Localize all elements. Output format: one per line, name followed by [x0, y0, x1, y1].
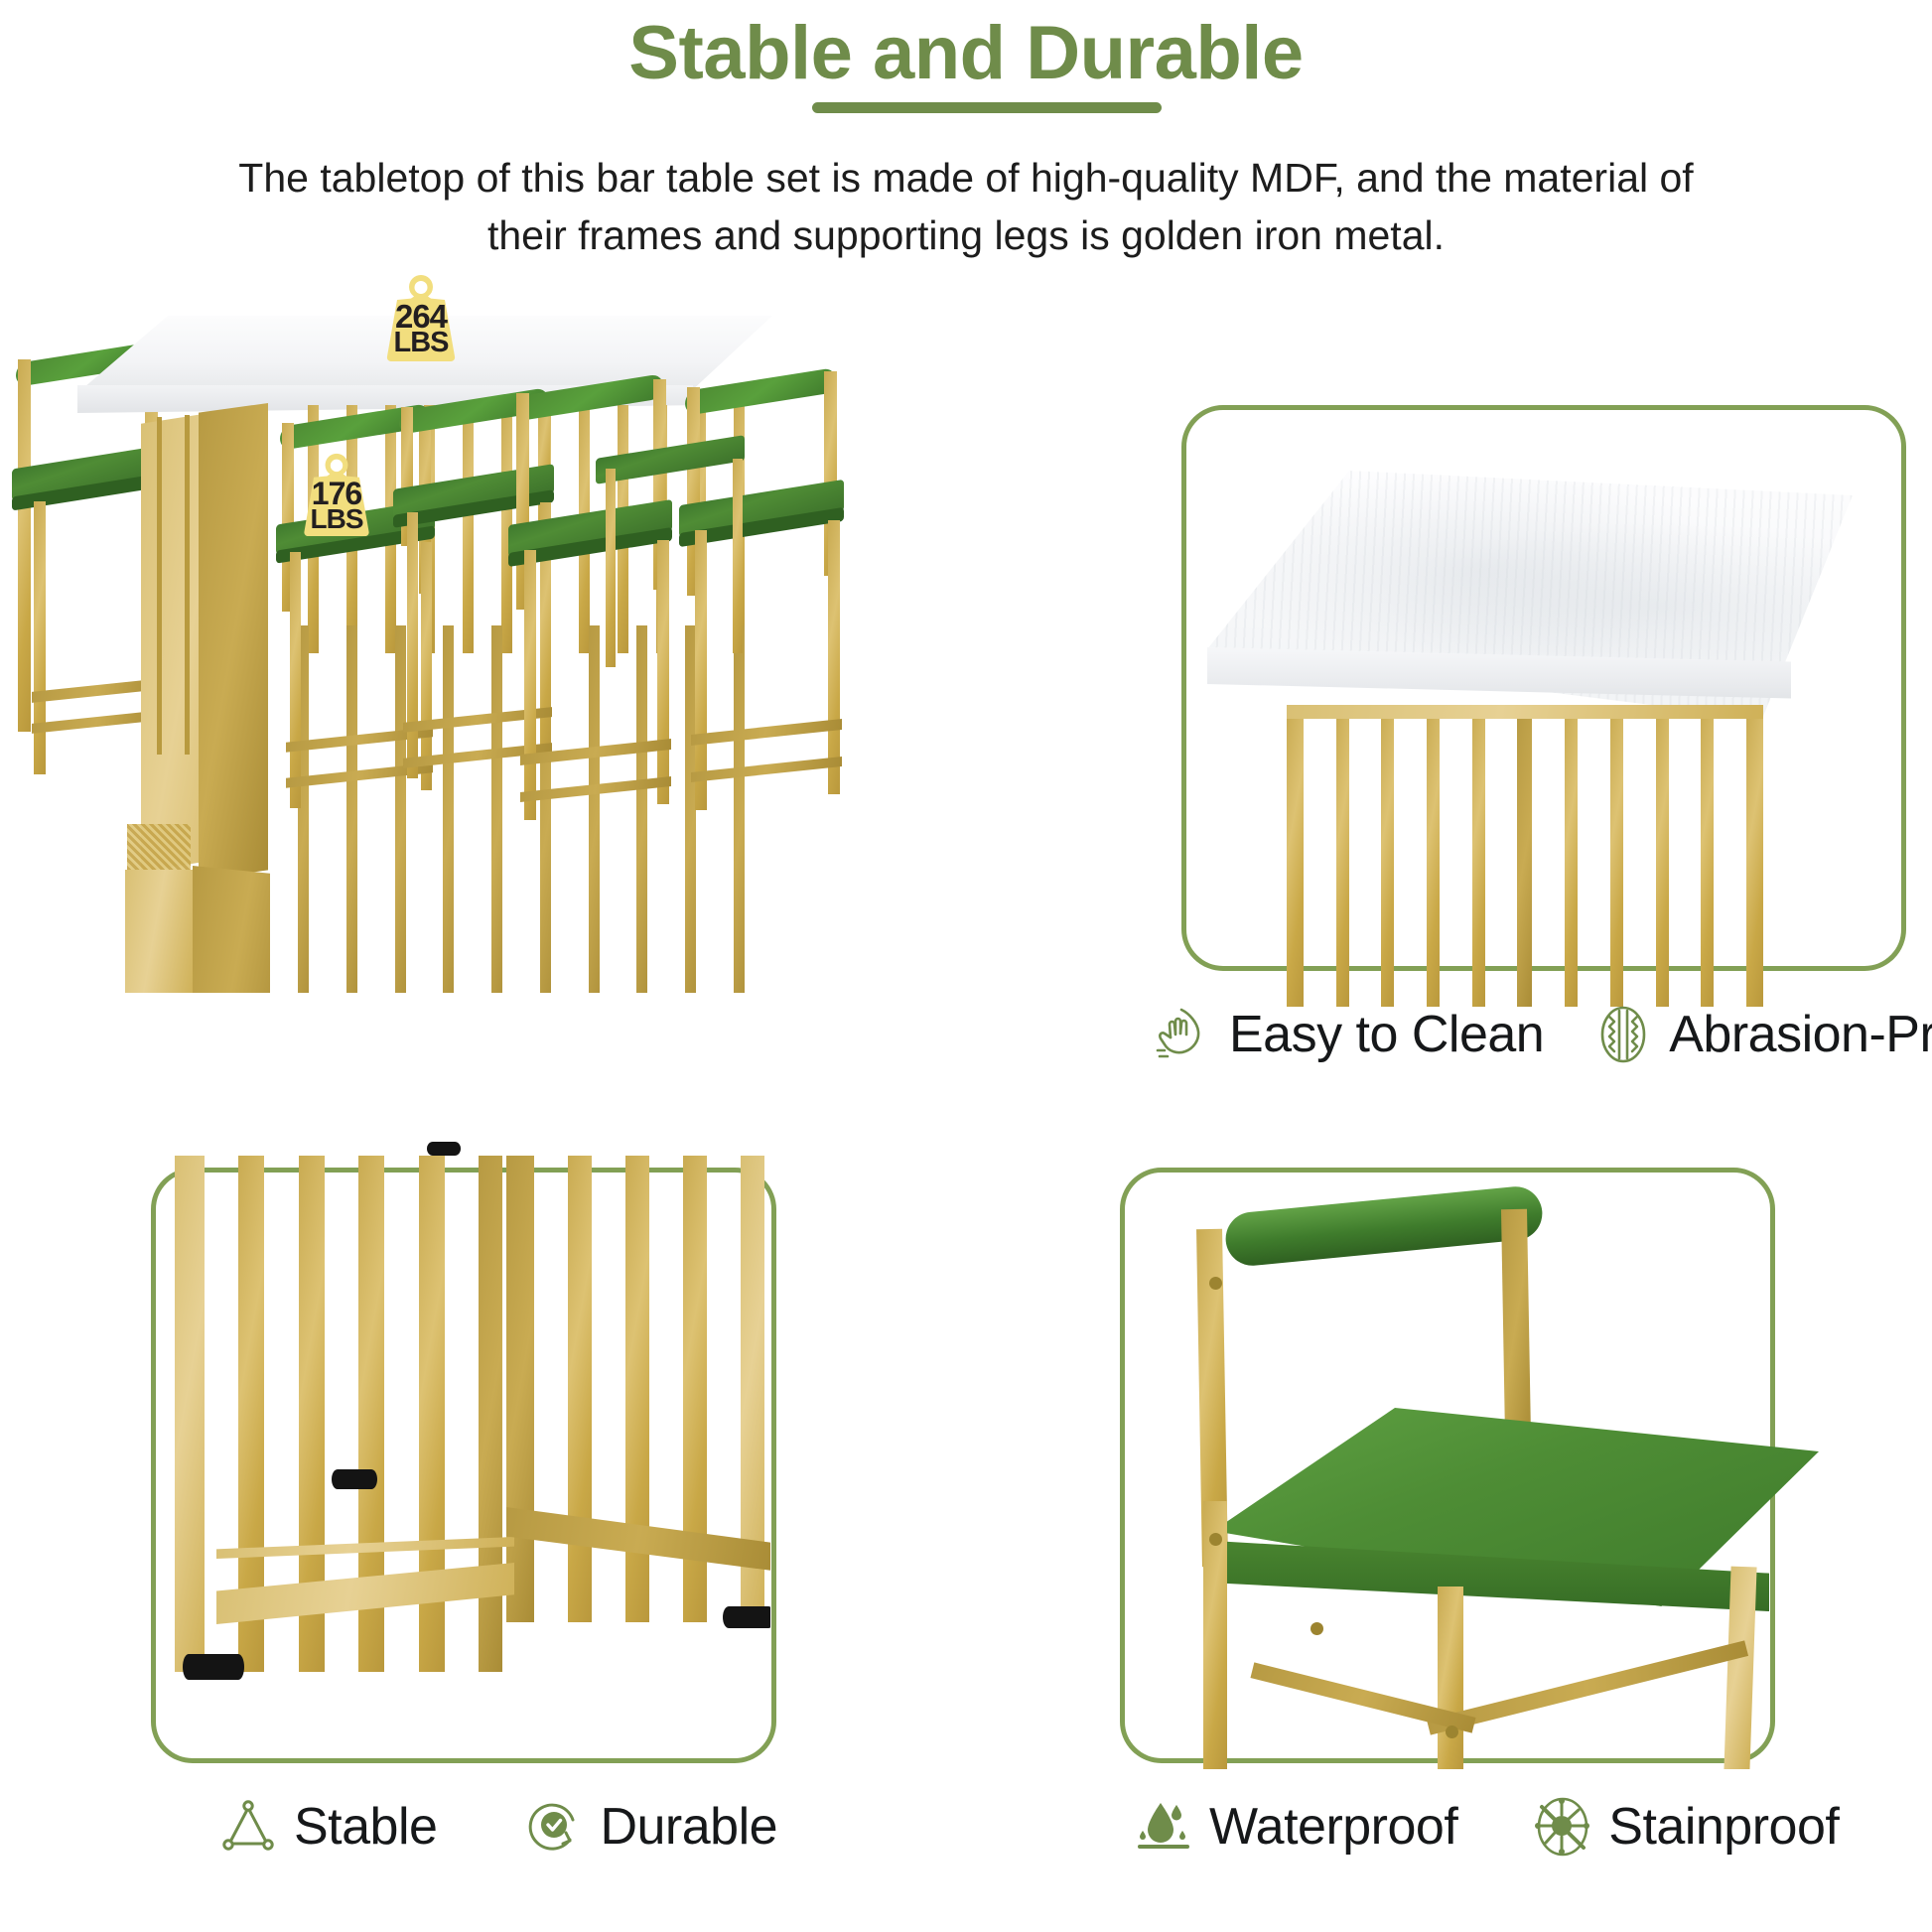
panel-legs-image [157, 1142, 770, 1769]
hand-wipe-icon [1152, 1003, 1215, 1066]
feature-label: Durable [600, 1801, 777, 1853]
chair-feature-row: Waterproof [1132, 1795, 1932, 1859]
feature-label: Stainproof [1608, 1801, 1839, 1853]
panel-tabletop-image [1187, 411, 1900, 1007]
feature-stable: Stable [216, 1795, 437, 1859]
feature-label: Waterproof [1209, 1801, 1457, 1853]
circular-arrow-check-icon [522, 1795, 586, 1859]
feature-waterproof: Waterproof [1132, 1795, 1457, 1859]
feature-label: Easy to Clean [1229, 1009, 1544, 1060]
panel-chair-image [1126, 1173, 1930, 1769]
feature-label: Abrasion-Proof [1669, 1009, 1932, 1060]
badge-unit: LBS [375, 329, 467, 356]
feature-label: Stable [294, 1801, 437, 1853]
feature-easy-to-clean: Easy to Clean [1152, 1003, 1544, 1066]
subtitle-line-1: The tabletop of this bar table set is ma… [172, 149, 1760, 207]
water-droplet-icon [1132, 1795, 1195, 1859]
tabletop-feature-row: Easy to Clean Abrasion-Proof [1152, 1003, 1932, 1066]
badge-table-capacity: 264 LBS [375, 273, 467, 362]
infographic-page: Stable and Durable The tabletop of this … [0, 0, 1932, 1932]
hero-product-image [0, 298, 1132, 993]
feature-abrasion-proof: Abrasion-Proof [1591, 1003, 1932, 1066]
page-subtitle: The tabletop of this bar table set is ma… [172, 149, 1760, 264]
feature-durable: Durable [522, 1795, 777, 1859]
subtitle-line-2: their frames and supporting legs is gold… [172, 207, 1760, 264]
badge-stool-capacity: 176 LBS [293, 452, 380, 537]
triangle-nodes-icon [216, 1795, 280, 1859]
badge-unit: LBS [293, 505, 380, 532]
page-title: Stable and Durable [0, 14, 1932, 93]
germ-crossed-icon [1531, 1795, 1594, 1859]
feature-stainproof: Stainproof [1531, 1795, 1839, 1859]
legs-feature-row: Stable Durable [216, 1795, 772, 1859]
abrasion-oval-icon [1591, 1003, 1655, 1066]
title-underline-rule [812, 102, 1162, 113]
